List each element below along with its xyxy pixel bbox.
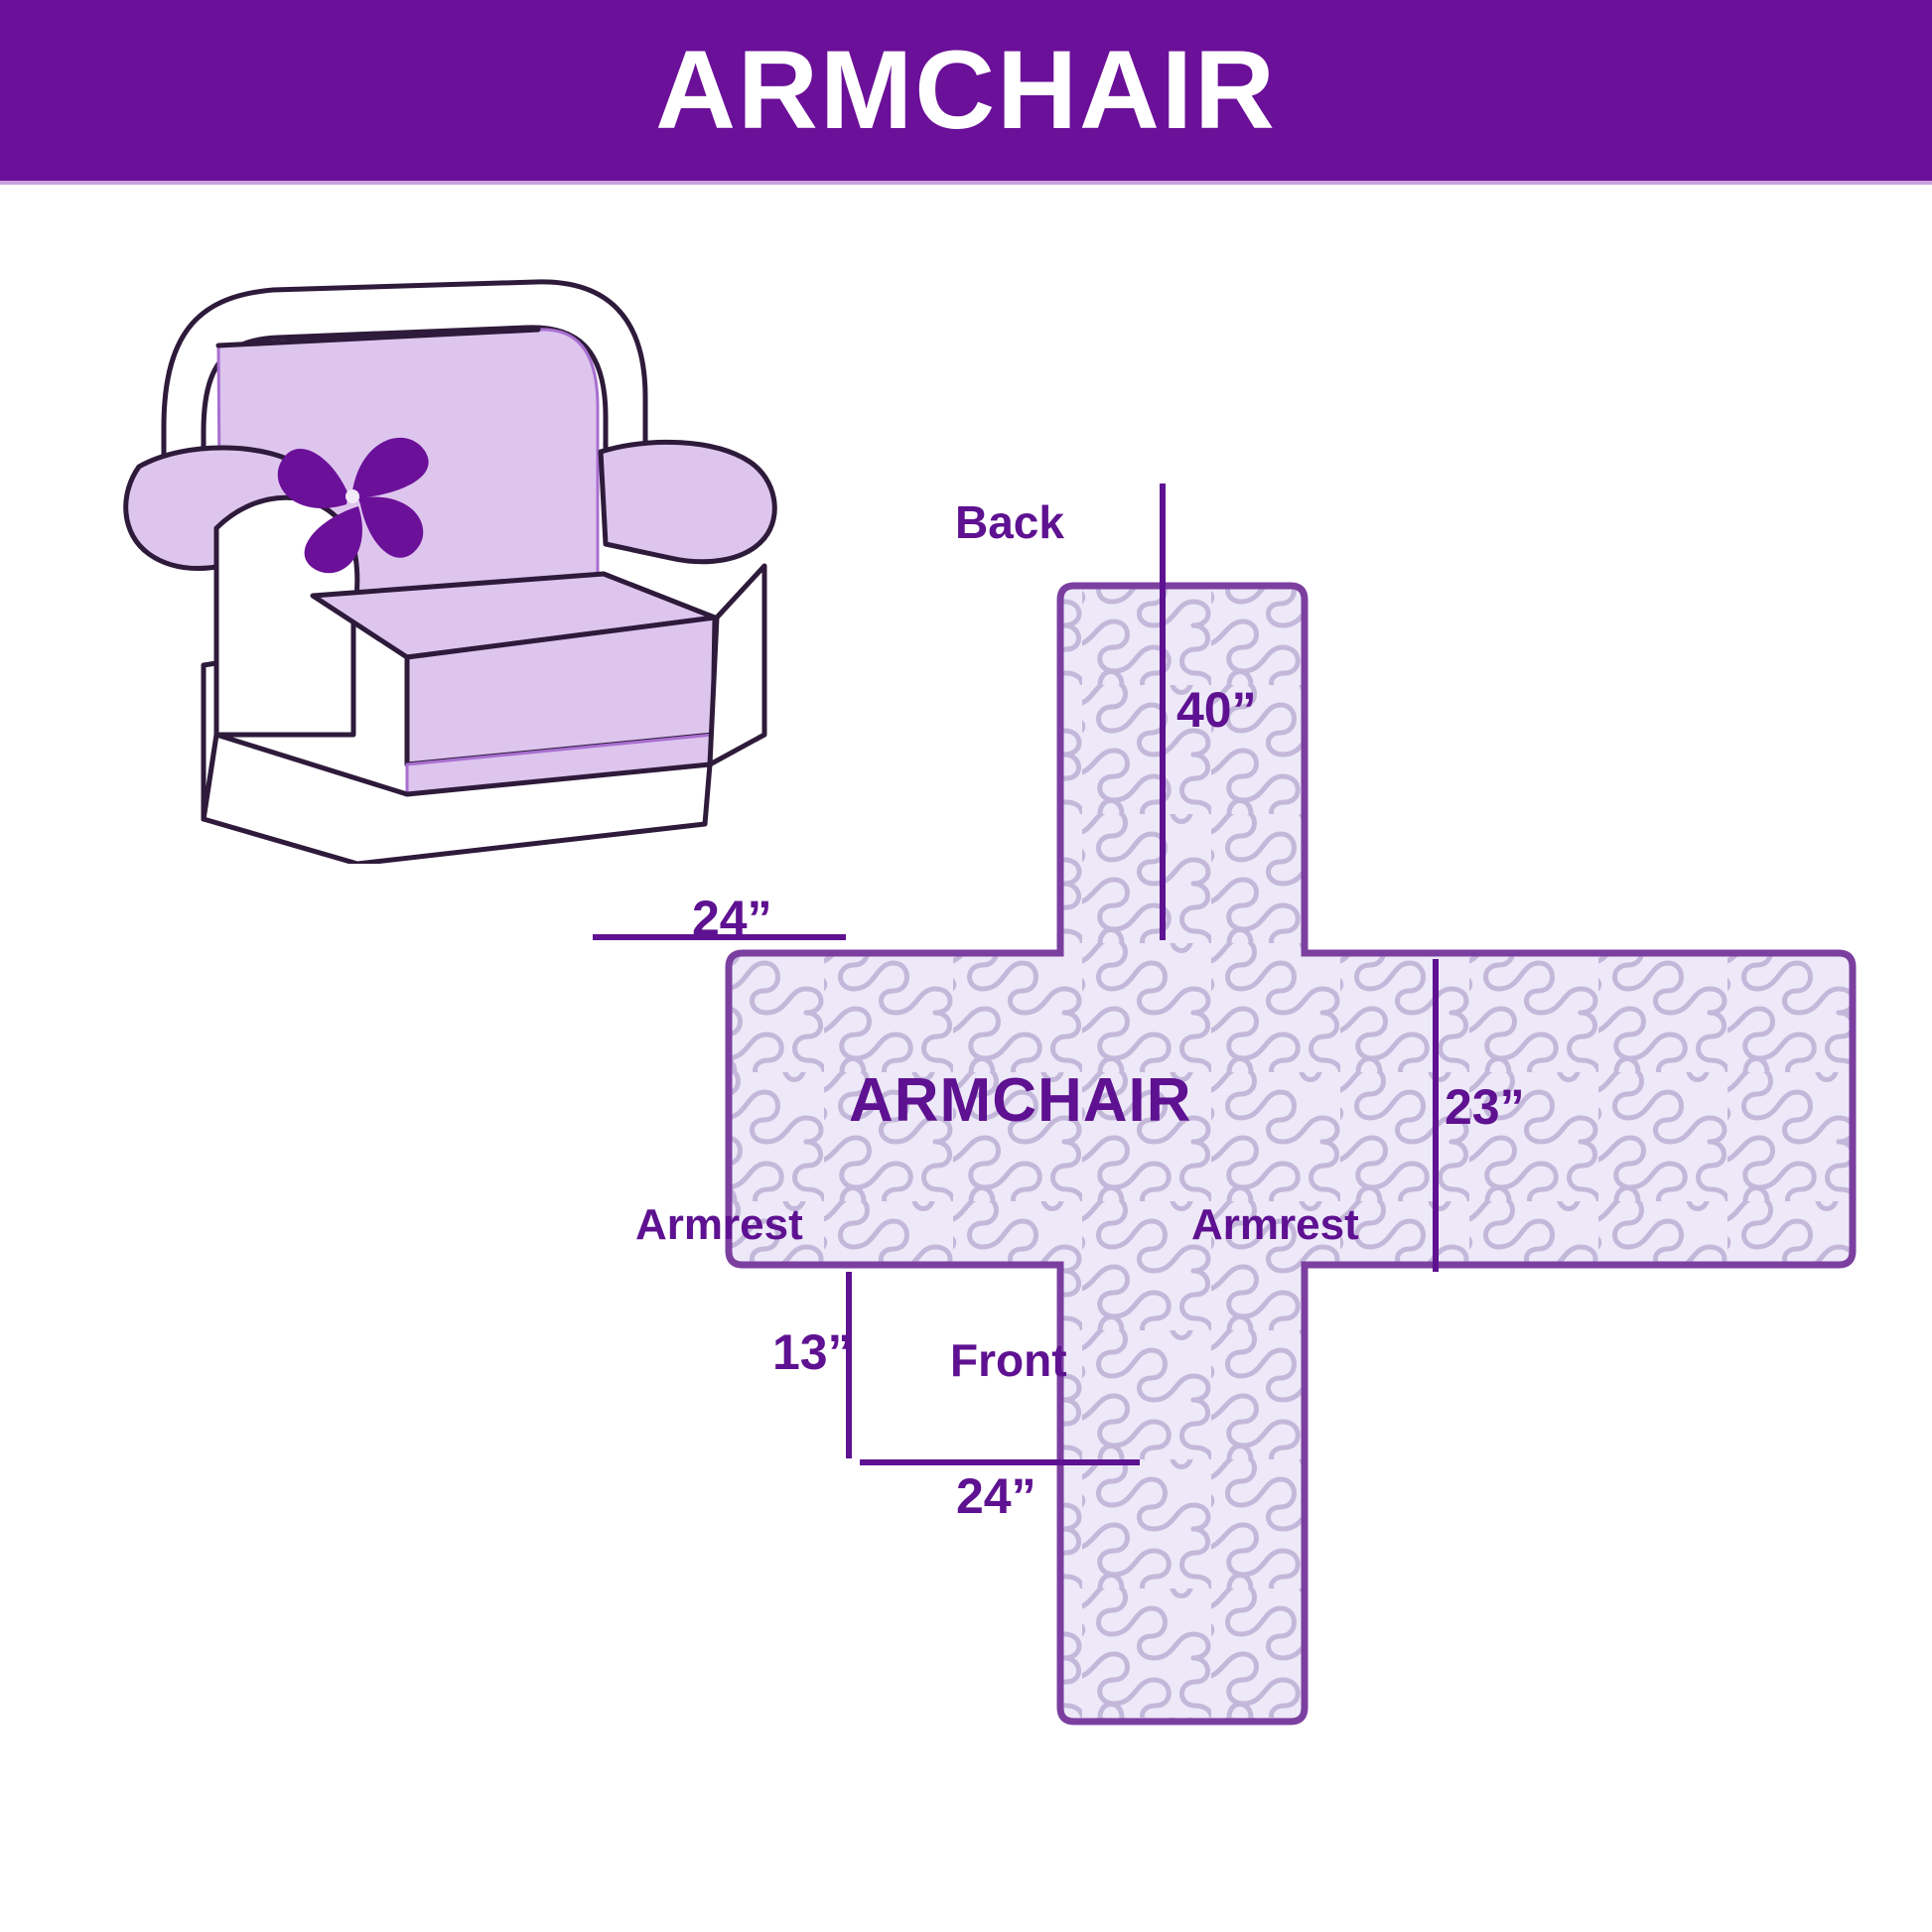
page-title: ARMCHAIR	[655, 35, 1277, 146]
product-dimension-infographic: ARMCHAIR	[0, 0, 1932, 1932]
header-banner: ARMCHAIR	[0, 0, 1932, 181]
panel-label-armrest-right: Armrest	[1191, 1203, 1359, 1247]
dimension-label-front-width: 24”	[956, 1471, 1036, 1521]
panel-label-product: ARMCHAIR	[849, 1070, 1192, 1132]
panel-label-front: Front	[950, 1337, 1067, 1383]
dimension-label-front-height: 13”	[772, 1327, 853, 1377]
armchair-illustration	[109, 268, 794, 864]
dimension-label-armrest-height: 23”	[1445, 1082, 1525, 1132]
dimension-line-front-width	[860, 1459, 1140, 1465]
dimension-line-armrest-height	[1433, 959, 1439, 1272]
dimension-line-back-height	[1160, 483, 1166, 940]
panel-label-armrest-left: Armrest	[635, 1203, 803, 1247]
dimension-label-back-height: 40”	[1176, 685, 1257, 735]
dimension-label-back-width: 24”	[692, 894, 772, 943]
header-divider	[0, 181, 1932, 185]
panel-label-back: Back	[955, 499, 1064, 545]
